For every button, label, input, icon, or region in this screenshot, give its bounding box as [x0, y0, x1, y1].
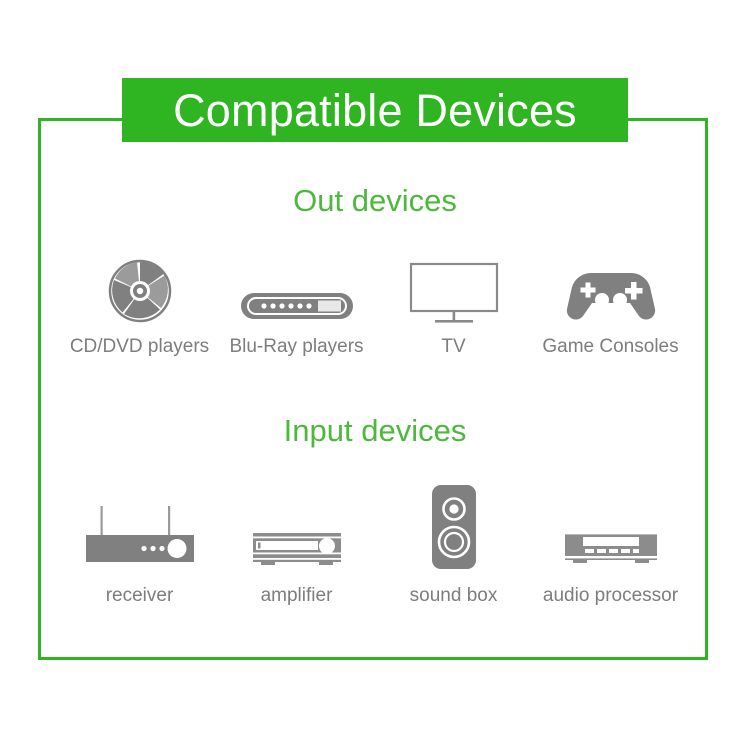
audio-processor-icon — [532, 482, 689, 572]
blu-ray-player-icon — [218, 248, 375, 327]
av-receiver-icon — [61, 482, 218, 572]
out-devices-row: CD/DVD players Blu-Ray players — [60, 248, 690, 358]
device-label: Blu-Ray players — [229, 337, 363, 358]
device-item-game-consoles[interactable]: Game Consoles — [532, 248, 689, 358]
speaker-icon — [375, 482, 532, 572]
device-item-cd-dvd-players[interactable]: CD/DVD players — [61, 248, 218, 358]
input-devices-row: receiver amplifier — [60, 482, 690, 607]
device-label: CD/DVD players — [70, 337, 209, 358]
device-item-audio-processor[interactable]: audio processor — [532, 482, 689, 607]
compatible-devices-panel: Compatible Devices Out devices CD/DVD pl… — [0, 0, 750, 750]
device-item-tv[interactable]: TV — [375, 248, 532, 358]
device-label: receiver — [106, 586, 174, 607]
device-item-receiver[interactable]: receiver — [61, 482, 218, 607]
gamepad-icon — [532, 248, 689, 327]
device-label: amplifier — [261, 586, 333, 607]
section-heading-input-devices: Input devices — [0, 415, 750, 446]
device-label: TV — [441, 337, 465, 358]
device-item-blu-ray-players[interactable]: Blu-Ray players — [218, 248, 375, 358]
title-banner: Compatible Devices — [122, 78, 628, 142]
section-heading-out-devices: Out devices — [0, 185, 750, 216]
amplifier-icon — [218, 482, 375, 572]
television-icon — [375, 248, 532, 327]
device-item-amplifier[interactable]: amplifier — [218, 482, 375, 607]
device-label: Game Consoles — [542, 337, 678, 358]
device-item-sound-box[interactable]: sound box — [375, 482, 532, 607]
device-label: sound box — [410, 586, 498, 607]
compact-disc-icon — [61, 248, 218, 327]
device-label: audio processor — [543, 586, 678, 607]
page-title: Compatible Devices — [173, 88, 577, 133]
